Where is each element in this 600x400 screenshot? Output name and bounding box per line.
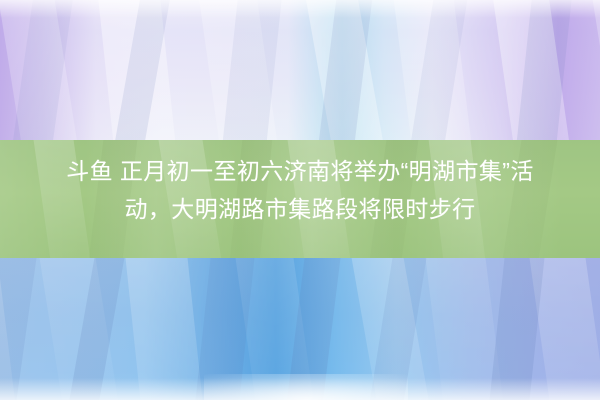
caption-text: 斗鱼 正月初一至初六济南将举办“明湖市集”活 动，大明湖路市集路段将限时步行: [0, 152, 600, 228]
caption-line-1: 斗鱼 正月初一至初六济南将举办“明湖市集”活: [20, 152, 580, 190]
bottom-edge-glow: [204, 374, 408, 400]
top-edge-highlight: [0, 0, 600, 18]
news-thumbnail-banner: 斗鱼 正月初一至初六济南将举办“明湖市集”活 动，大明湖路市集路段将限时步行: [0, 0, 600, 400]
caption-line-2: 动，大明湖路市集路段将限时步行: [20, 190, 580, 228]
